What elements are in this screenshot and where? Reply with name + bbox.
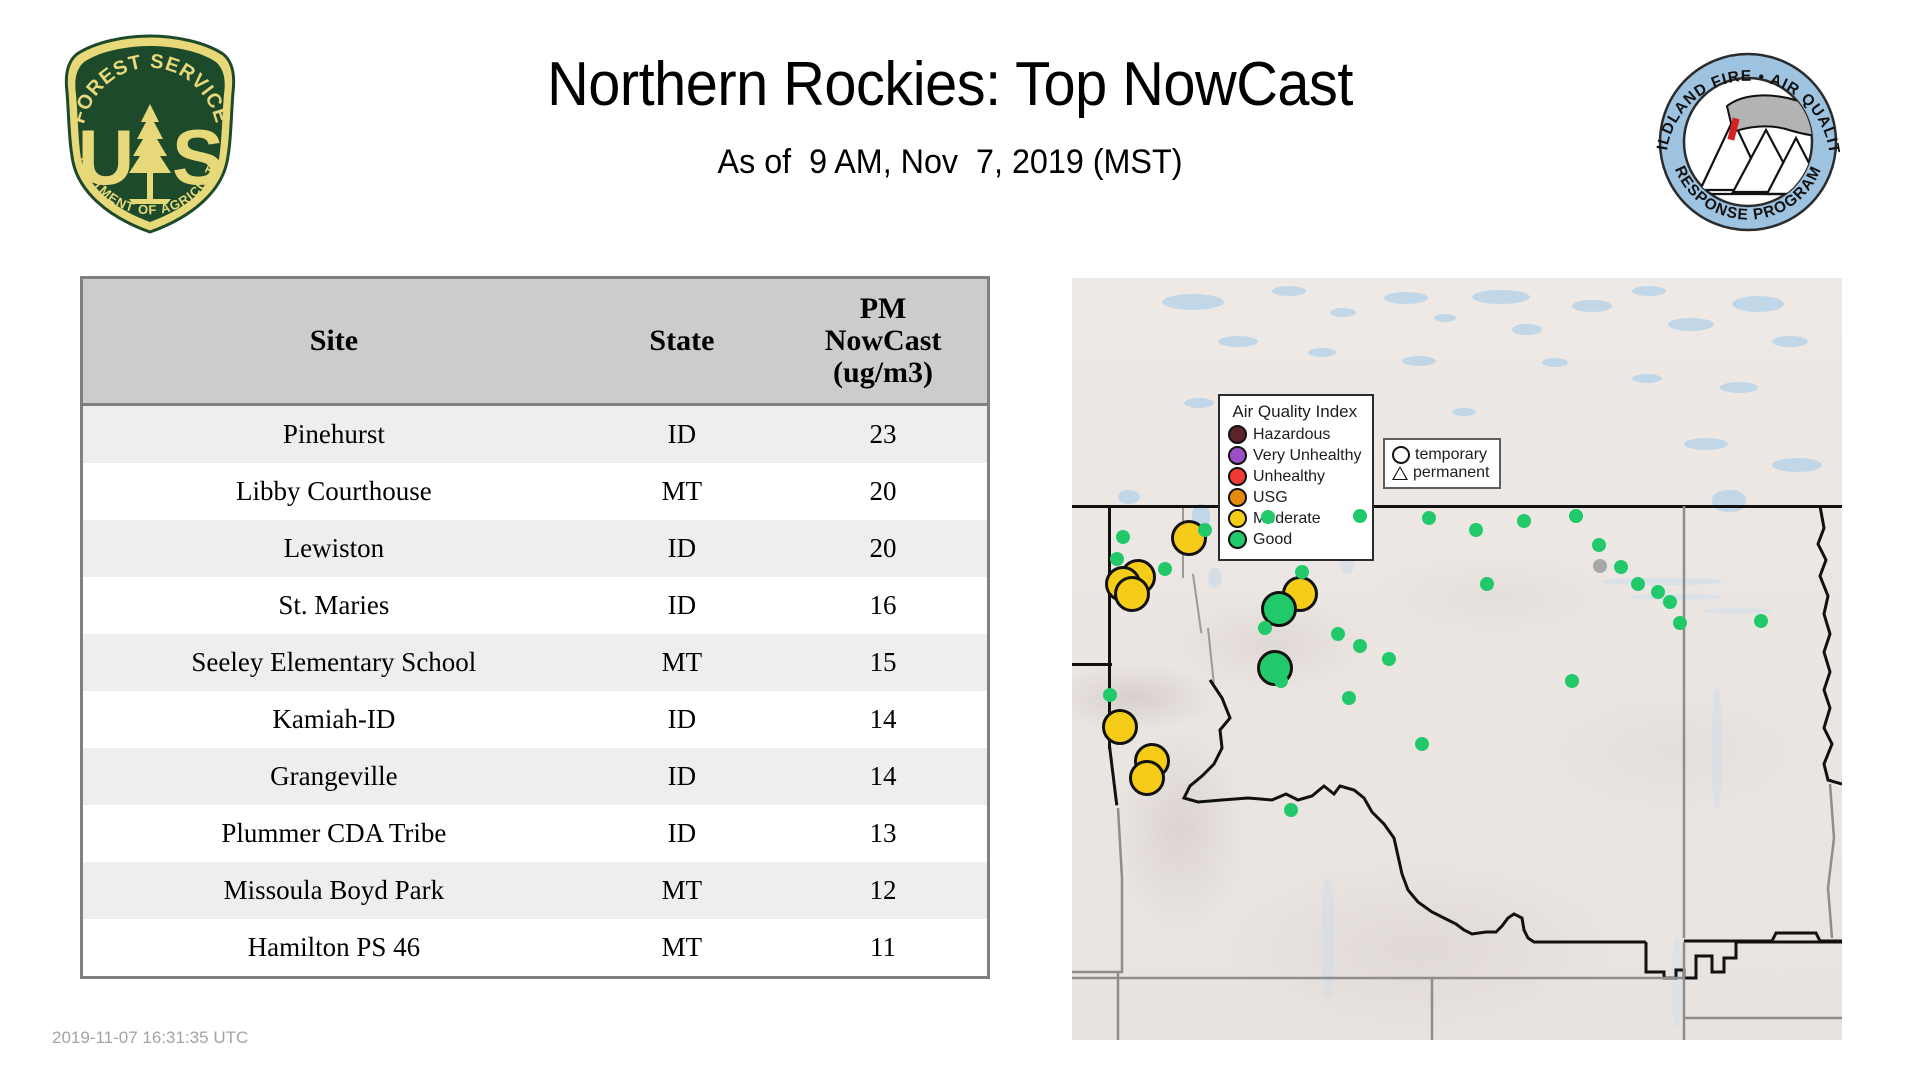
cell-pm: 12: [779, 862, 987, 919]
monitor-marker[interactable]: [1353, 509, 1367, 523]
monitor-marker[interactable]: [1261, 510, 1275, 524]
table-row: LewistonID20: [83, 520, 987, 577]
monitor-marker[interactable]: [1342, 691, 1356, 705]
monitor-marker[interactable]: [1158, 562, 1172, 576]
monitor-marker[interactable]: [1353, 639, 1367, 653]
monitor-marker[interactable]: [1129, 760, 1165, 796]
legend-item-permanent-label: permanent: [1413, 465, 1490, 481]
table-row: Kamiah-IDID14: [83, 691, 987, 748]
state-border-vectors: [1072, 278, 1842, 1040]
monitor-marker[interactable]: [1274, 674, 1288, 688]
cell-site: Missoula Boyd Park: [83, 862, 585, 919]
cell-pm: 23: [779, 405, 987, 464]
cell-site: Hamilton PS 46: [83, 919, 585, 976]
cell-state: ID: [585, 577, 779, 634]
cell-site: Lewiston: [83, 520, 585, 577]
cell-pm: 15: [779, 634, 987, 691]
cell-state: ID: [585, 405, 779, 464]
column-header-state: State: [585, 279, 779, 405]
circle-outline-icon: [1392, 446, 1410, 464]
cell-site: Kamiah-ID: [83, 691, 585, 748]
monitor-marker[interactable]: [1651, 585, 1665, 599]
cell-site: Seeley Elementary School: [83, 634, 585, 691]
monitor-marker[interactable]: [1569, 509, 1583, 523]
cell-pm: 11: [779, 919, 987, 976]
table-row: Hamilton PS 46MT11: [83, 919, 987, 976]
table-row: Missoula Boyd ParkMT12: [83, 862, 987, 919]
table-header-row: Site State PM NowCast (ug/m3): [83, 279, 987, 405]
legend-rows: HazardousVery UnhealthyUnhealthyUSGModer…: [1228, 425, 1362, 549]
legend-swatch-icon: [1228, 467, 1247, 486]
cell-state: MT: [585, 919, 779, 976]
wildland-fire-air-quality-seal-icon: WILDLAND FIRE • AIR QUALITY RESPONSE PRO…: [1645, 42, 1850, 242]
monitor-marker[interactable]: [1102, 709, 1138, 745]
legend-item-label: Unhealthy: [1253, 469, 1325, 485]
cell-pm: 14: [779, 748, 987, 805]
monitor-marker[interactable]: [1631, 577, 1645, 591]
cell-site: Grangeville: [83, 748, 585, 805]
pm-header-line2: NowCast: [783, 325, 983, 357]
cell-state: ID: [585, 805, 779, 862]
us-forest-service-shield-icon: FOREST SERVICE DEPARTMENT OF AGRICULTURE…: [55, 32, 245, 237]
column-header-site: Site: [83, 279, 585, 405]
monitor-marker[interactable]: [1517, 514, 1531, 528]
pm-header-line3: (ug/m3): [783, 357, 983, 389]
monitor-marker[interactable]: [1593, 559, 1607, 573]
monitor-marker[interactable]: [1614, 560, 1628, 574]
monitor-marker[interactable]: [1114, 576, 1150, 612]
monitor-marker[interactable]: [1415, 737, 1429, 751]
triangle-outline-icon: [1392, 466, 1408, 480]
legend-swatch-icon: [1228, 488, 1247, 507]
legend-swatch-icon: [1228, 530, 1247, 549]
page-subtitle: As of 9 AM, Nov 7, 2019 (MST): [314, 143, 1587, 182]
monitor-marker[interactable]: [1663, 595, 1677, 609]
legend-item-temporary: temporary: [1392, 446, 1490, 464]
cell-pm: 20: [779, 520, 987, 577]
cell-state: ID: [585, 748, 779, 805]
legend-swatch-icon: [1228, 509, 1247, 528]
legend-item: Good: [1228, 530, 1362, 549]
monitor-marker[interactable]: [1198, 523, 1212, 537]
monitor-map[interactable]: Air Quality Index HazardousVery Unhealth…: [1072, 278, 1842, 1040]
monitor-marker[interactable]: [1110, 552, 1124, 566]
monitor-marker[interactable]: [1331, 627, 1345, 641]
table-row: GrangevilleID14: [83, 748, 987, 805]
legend-item-label: Hazardous: [1253, 427, 1330, 443]
table-row: Seeley Elementary SchoolMT15: [83, 634, 987, 691]
cell-pm: 20: [779, 463, 987, 520]
cell-pm: 14: [779, 691, 987, 748]
legend-item: Moderate: [1228, 509, 1362, 528]
monitor-marker[interactable]: [1116, 530, 1130, 544]
cell-state: MT: [585, 463, 779, 520]
cell-pm: 13: [779, 805, 987, 862]
cell-pm: 16: [779, 577, 987, 634]
cell-state: ID: [585, 520, 779, 577]
monitor-marker[interactable]: [1565, 674, 1579, 688]
legend-item-temporary-label: temporary: [1415, 447, 1487, 463]
air-quality-index-legend: Air Quality Index HazardousVery Unhealth…: [1218, 394, 1374, 561]
legend-swatch-icon: [1228, 425, 1247, 444]
site-type-legend: temporary permanent: [1383, 438, 1501, 489]
monitor-marker[interactable]: [1284, 803, 1298, 817]
monitor-marker[interactable]: [1295, 565, 1309, 579]
table-row: St. MariesID16: [83, 577, 987, 634]
monitor-marker[interactable]: [1103, 688, 1117, 702]
legend-item: USG: [1228, 488, 1362, 507]
cell-state: MT: [585, 634, 779, 691]
monitor-marker[interactable]: [1258, 621, 1272, 635]
legend-title: Air Quality Index: [1228, 402, 1362, 422]
monitor-marker[interactable]: [1480, 577, 1494, 591]
column-header-pm-nowcast: PM NowCast (ug/m3): [779, 279, 987, 405]
table-row: Plummer CDA TribeID13: [83, 805, 987, 862]
monitor-marker[interactable]: [1422, 511, 1436, 525]
legend-item: Hazardous: [1228, 425, 1362, 444]
footer-timestamp: 2019-11-07 16:31:35 UTC: [52, 1028, 248, 1048]
page-header: FOREST SERVICE DEPARTMENT OF AGRICULTURE…: [0, 0, 1920, 270]
pm-header-line1: PM: [783, 293, 983, 325]
legend-item-label: Good: [1253, 532, 1292, 548]
cell-state: ID: [585, 691, 779, 748]
title-block: Northern Rockies: Top NowCast As of 9 AM…: [280, 52, 1620, 182]
cell-site: Pinehurst: [83, 405, 585, 464]
legend-item-label: Very Unhealthy: [1253, 448, 1362, 464]
monitor-marker[interactable]: [1754, 614, 1768, 628]
table-row: PinehurstID23: [83, 405, 987, 464]
legend-swatch-icon: [1228, 446, 1247, 465]
table-row: Libby CourthouseMT20: [83, 463, 987, 520]
svg-text:U: U: [78, 113, 134, 201]
svg-text:S: S: [172, 113, 224, 201]
legend-item-permanent: permanent: [1392, 465, 1490, 481]
legend-item: Very Unhealthy: [1228, 446, 1362, 465]
monitor-marker[interactable]: [1469, 523, 1483, 537]
top-nowcast-table: Site State PM NowCast (ug/m3) PinehurstI…: [80, 276, 990, 979]
legend-item-label: USG: [1253, 490, 1288, 506]
page-title: Northern Rockies: Top NowCast: [327, 52, 1573, 117]
cell-state: MT: [585, 862, 779, 919]
monitor-marker[interactable]: [1382, 652, 1396, 666]
cell-site: Plummer CDA Tribe: [83, 805, 585, 862]
cell-site: Libby Courthouse: [83, 463, 585, 520]
monitor-marker[interactable]: [1673, 616, 1687, 630]
table-body: PinehurstID23Libby CourthouseMT20Lewisto…: [83, 405, 987, 977]
monitor-marker[interactable]: [1592, 538, 1606, 552]
cell-site: St. Maries: [83, 577, 585, 634]
legend-item: Unhealthy: [1228, 467, 1362, 486]
